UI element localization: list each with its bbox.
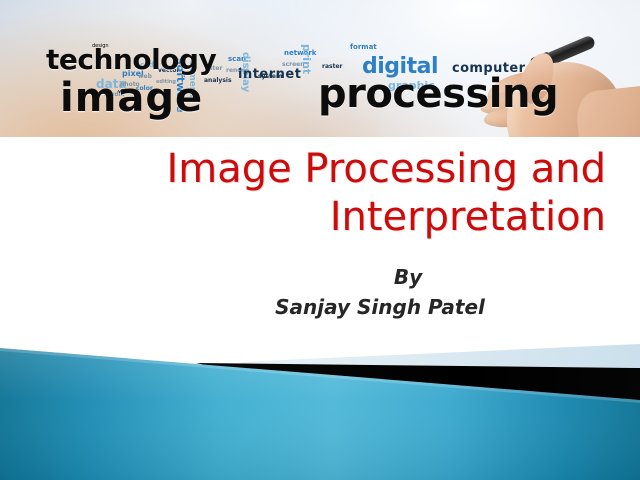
wordcloud-small-word: raster: [322, 64, 342, 70]
byline-author: Sanjay Singh Patel: [180, 292, 580, 322]
banner-image: design data media pixel photo video code…: [0, 0, 640, 137]
wordcloud-small-word: format: [350, 44, 377, 51]
wordcloud-small-word: print: [301, 44, 312, 74]
slide-canvas: design data media pixel photo video code…: [0, 0, 640, 480]
wordcloud-big-word: technology: [46, 46, 216, 74]
byline-block: By Sanjay Singh Patel: [180, 262, 580, 322]
wordcloud-medium-word: internet: [238, 68, 301, 81]
title-line-2: Interpretation: [38, 193, 606, 241]
title-line-1: Image Processing and: [38, 145, 606, 193]
slide-title: Image Processing and Interpretation: [38, 145, 606, 241]
footer-decoration: [0, 330, 640, 480]
byline-label: By: [236, 262, 580, 292]
wordcloud-big-word: image: [60, 78, 203, 118]
wordcloud-big-word: processing: [318, 74, 558, 114]
wordcloud-small-word: analysis: [204, 78, 232, 84]
